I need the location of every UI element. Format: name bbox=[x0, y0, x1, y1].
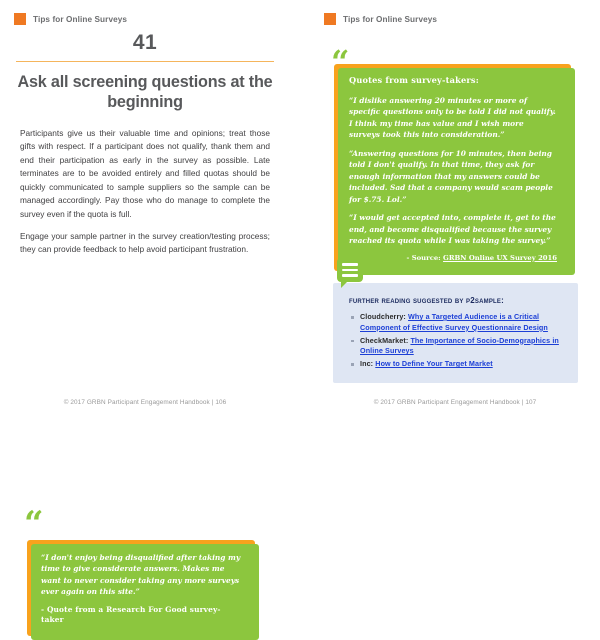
quote-text: “I don't enjoy being disqualified after … bbox=[41, 552, 241, 598]
further-reading-title: Further reading suggested by P2Sample: bbox=[349, 296, 565, 305]
left-page: Tips for Online Surveys 41 Ask all scree… bbox=[0, 0, 290, 424]
survey-taker-quote: “I would get accepted into, complete it,… bbox=[349, 212, 557, 246]
list-item-source: Inc: bbox=[360, 359, 375, 368]
right-page: Tips for Online Surveys “ Quotes from su… bbox=[310, 0, 600, 424]
page-spread: Tips for Online Surveys 41 Ask all scree… bbox=[0, 0, 600, 424]
list-item-source: Cloudcherry: bbox=[360, 312, 408, 321]
list-item: Cloudcherry: Why a Targeted Audience is … bbox=[360, 312, 565, 334]
quote-mark-icon: “ bbox=[24, 512, 44, 536]
left-running-header: Tips for Online Surveys bbox=[0, 0, 290, 25]
quote-source-prefix: - Source: bbox=[407, 254, 444, 262]
body-paragraph: Engage your sample partner in the survey… bbox=[20, 230, 270, 257]
tip-number: 41 bbox=[0, 31, 290, 55]
quote-box: “I don't enjoy being disqualified after … bbox=[27, 540, 255, 637]
survey-taker-quote: “Answering questions for 10 minutes, the… bbox=[349, 148, 557, 205]
further-reading-list: Cloudcherry: Why a Targeted Audience is … bbox=[349, 312, 565, 370]
further-reading-panel: Further reading suggested by P2Sample: C… bbox=[333, 283, 578, 383]
running-header-label: Tips for Online Surveys bbox=[343, 15, 437, 24]
green-list-bubble-icon bbox=[337, 258, 363, 282]
body-paragraph: Participants give us their valuable time… bbox=[20, 127, 270, 221]
quote-mark-icon: “ bbox=[331, 51, 349, 74]
title-divider bbox=[16, 61, 274, 62]
list-item-link[interactable]: How to Define Your Target Market bbox=[375, 359, 492, 368]
quotes-box: Quotes from survey-takers: “I dislike an… bbox=[334, 64, 571, 271]
quote-attribution: - Quote from a Research For Good survey-… bbox=[41, 605, 241, 626]
running-header-label: Tips for Online Surveys bbox=[33, 15, 127, 24]
quote-source: - Source: GRBN Online UX Survey 2016 bbox=[349, 254, 557, 262]
right-running-header: Tips for Online Surveys bbox=[310, 0, 600, 25]
right-footer: © 2017 GRBN Participant Engagement Handb… bbox=[310, 399, 600, 406]
list-item: CheckMarket: The Importance of Socio-Dem… bbox=[360, 336, 565, 358]
quote-source-link[interactable]: GRBN Online UX Survey 2016 bbox=[443, 254, 557, 262]
orange-square-icon bbox=[14, 13, 26, 25]
orange-square-icon bbox=[324, 13, 336, 25]
list-item: Inc: How to Define Your Target Market bbox=[360, 359, 565, 370]
body-copy: Participants give us their valuable time… bbox=[20, 127, 270, 257]
left-footer: © 2017 GRBN Participant Engagement Handb… bbox=[0, 399, 290, 406]
list-item-source: CheckMarket: bbox=[360, 336, 410, 345]
quotes-heading: Quotes from survey-takers: bbox=[349, 75, 557, 85]
survey-taker-quote: “I dislike answering 20 minutes or more … bbox=[349, 95, 557, 141]
page-title: Ask all screening questions at the begin… bbox=[14, 73, 276, 113]
